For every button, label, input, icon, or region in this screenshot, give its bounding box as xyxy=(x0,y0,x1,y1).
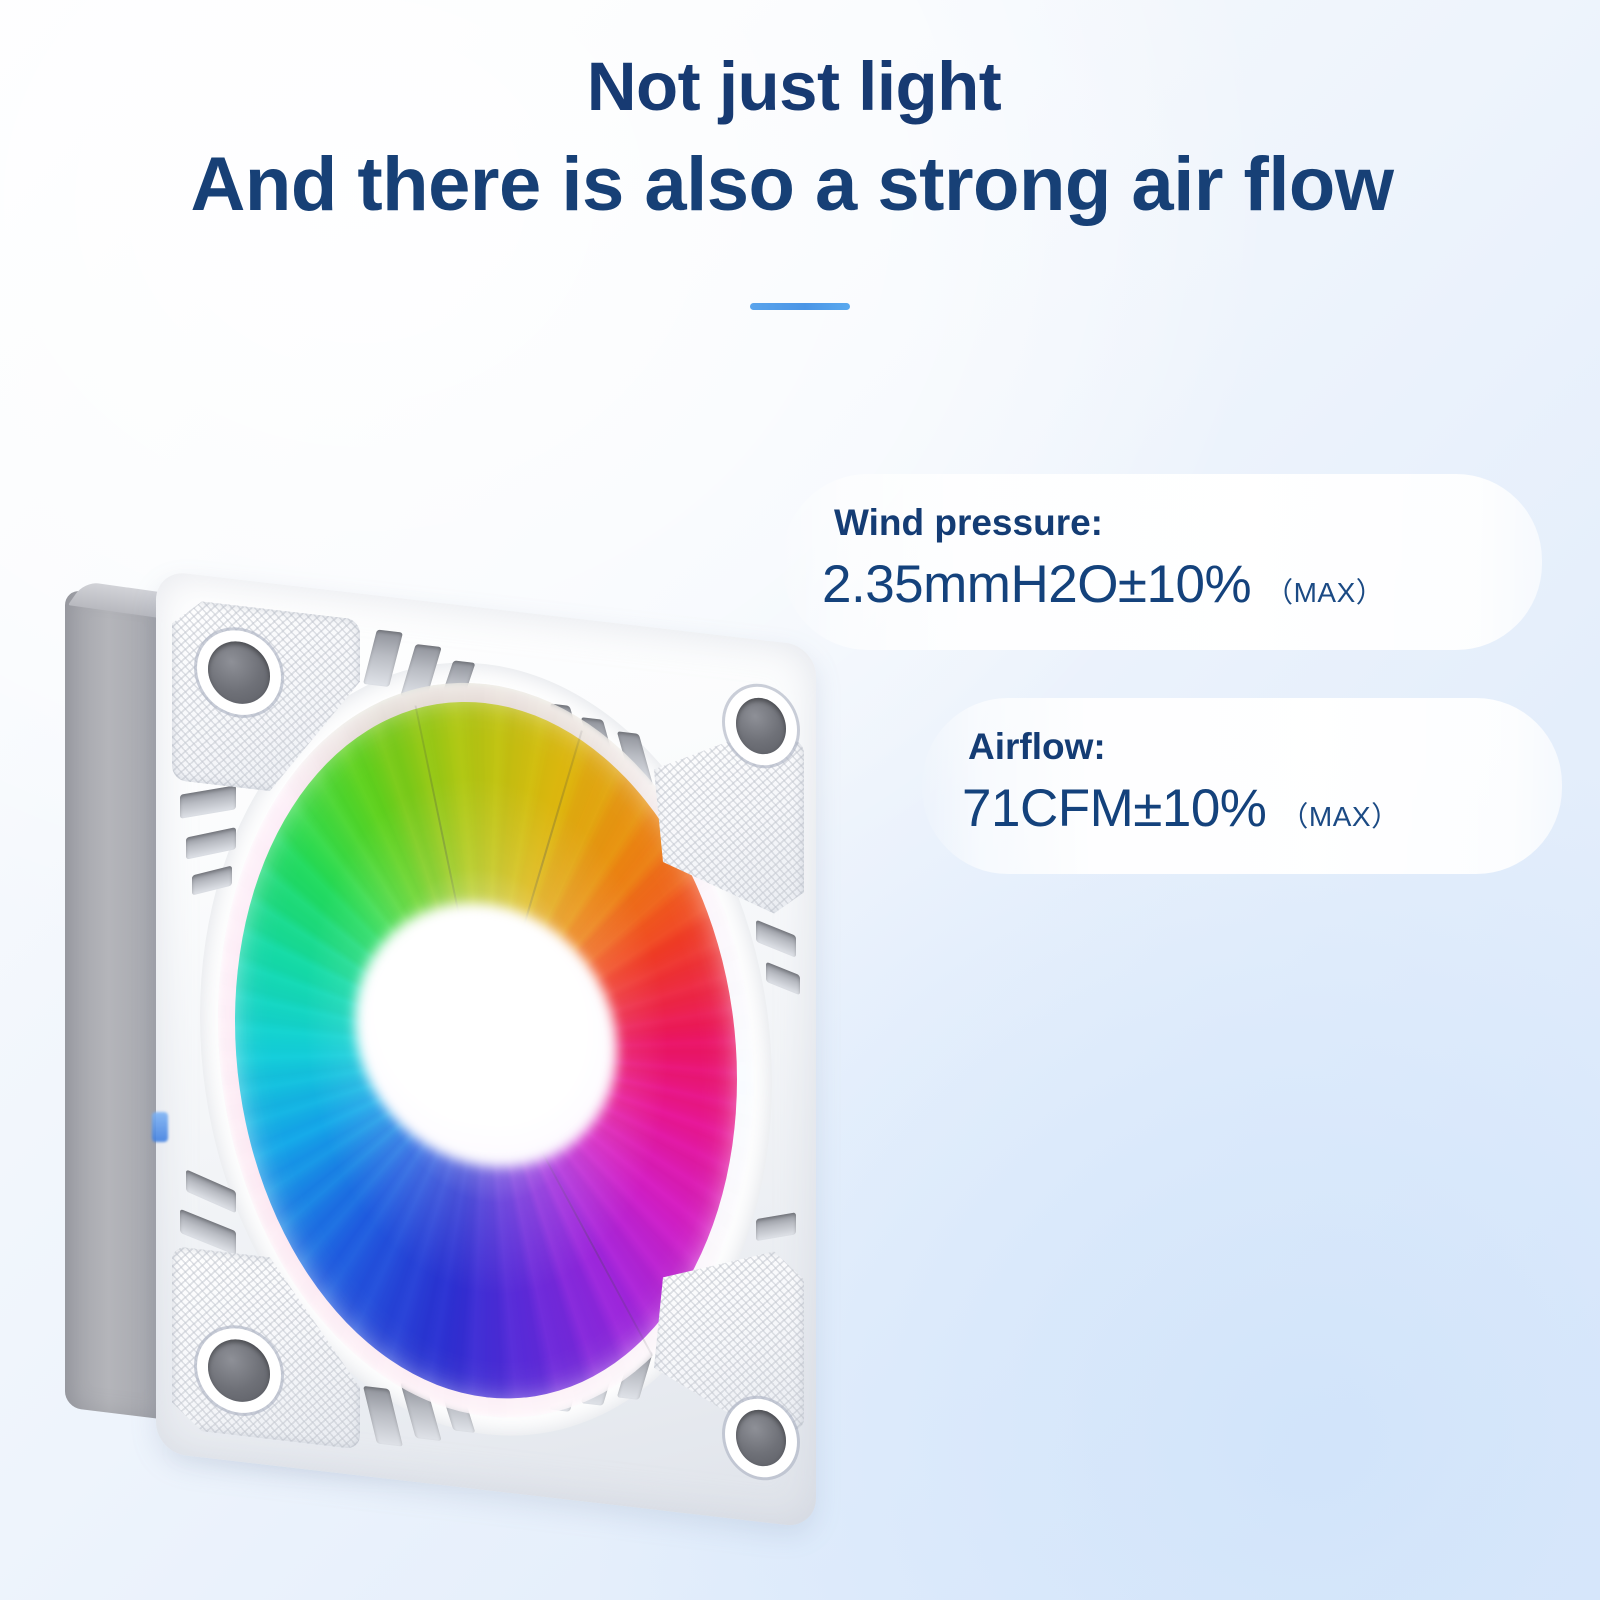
spec-label-airflow: Airflow: xyxy=(968,728,1562,765)
headline-block: Not just light And there is also a stron… xyxy=(0,52,1600,223)
promo-page: Not just light And there is also a stron… xyxy=(0,0,1600,1600)
headline-primary: Not just light xyxy=(0,52,1600,121)
spec-qualifier-airflow: （MAX） xyxy=(1280,801,1399,832)
spec-label-wind-pressure: Wind pressure: xyxy=(834,504,1542,541)
spec-card-airflow: Airflow: 71CFM±10%（MAX） xyxy=(922,698,1562,874)
headline-secondary: And there is also a strong air flow xyxy=(0,147,1600,223)
spec-value-airflow: 71CFM±10% xyxy=(962,779,1266,838)
fan-side-panel xyxy=(65,589,169,1420)
spec-value-row-airflow: 71CFM±10%（MAX） xyxy=(962,782,1562,835)
led-indicator-dot xyxy=(152,1112,168,1142)
spec-value-row-wind-pressure: 2.35mmH2O±10%（MAX） xyxy=(822,558,1542,611)
product-image-rgb-case-fan xyxy=(60,556,840,1486)
spec-value-wind-pressure: 2.35mmH2O±10% xyxy=(822,555,1251,614)
fan-frame xyxy=(156,570,816,1528)
spec-qualifier-wind-pressure: （MAX） xyxy=(1265,577,1384,608)
section-divider-bar xyxy=(750,303,850,310)
spec-card-wind-pressure: Wind pressure: 2.35mmH2O±10%（MAX） xyxy=(782,474,1542,650)
